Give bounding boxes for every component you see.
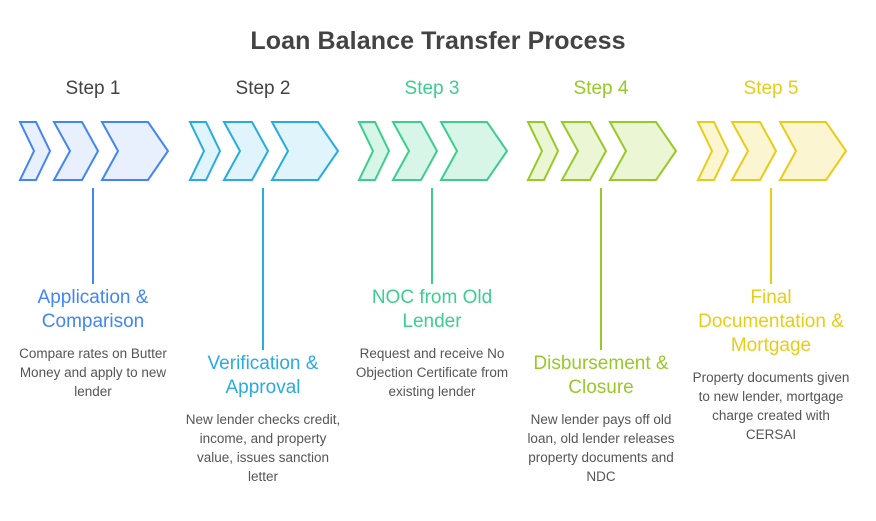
step-label-5: Step 5 — [684, 78, 858, 100]
step-label-3: Step 3 — [345, 78, 519, 100]
step-heading-3: NOC from Old Lender — [345, 286, 519, 334]
chevron-large-icon — [610, 122, 676, 180]
chevron-group-5 — [684, 120, 858, 182]
step-description-3: Request and receive No Objection Certifi… — [345, 344, 519, 401]
chevron-medium-icon — [54, 122, 98, 180]
chevron-medium-icon — [732, 122, 776, 180]
step-heading-1: Application & Comparison — [6, 286, 180, 334]
chevron-small-icon — [359, 122, 389, 180]
connector-line-2 — [262, 188, 264, 350]
chevron-small-icon — [190, 122, 220, 180]
process-step-5: Step 5 Final Documentation & Mortgage Pr… — [684, 78, 858, 521]
process-steps-row: Step 1 Application & Comparison Compare … — [0, 78, 876, 521]
chevron-medium-icon — [393, 122, 437, 180]
connector-line-5 — [770, 188, 772, 284]
step-heading-5: Final Documentation & Mortgage — [684, 286, 858, 358]
step-text-5: Final Documentation & Mortgage Property … — [684, 286, 858, 444]
step-description-5: Property documents given to new lender, … — [684, 368, 858, 444]
process-step-4: Step 4 Disbursement & Closure New lender… — [514, 78, 688, 521]
chevron-small-icon — [698, 122, 728, 180]
step-label-4: Step 4 — [514, 78, 688, 100]
chevron-group-1 — [6, 120, 180, 182]
step-text-4: Disbursement & Closure New lender pays o… — [514, 352, 688, 486]
process-step-3: Step 3 NOC from Old Lender Request and r… — [345, 78, 519, 521]
connector-line-1 — [92, 188, 94, 284]
chevron-large-icon — [441, 122, 507, 180]
chevron-small-icon — [528, 122, 558, 180]
chevron-group-2 — [176, 120, 350, 182]
chevron-group-4 — [514, 120, 688, 182]
page-title: Loan Balance Transfer Process — [0, 27, 876, 56]
connector-line-3 — [431, 188, 433, 284]
step-text-3: NOC from Old Lender Request and receive … — [345, 286, 519, 401]
chevron-large-icon — [780, 122, 846, 180]
step-heading-2: Verification & Approval — [176, 352, 350, 400]
step-text-1: Application & Comparison Compare rates o… — [6, 286, 180, 401]
step-description-2: New lender checks credit, income, and pr… — [176, 410, 350, 486]
chevron-medium-icon — [224, 122, 268, 180]
step-heading-4: Disbursement & Closure — [514, 352, 688, 400]
step-label-1: Step 1 — [6, 78, 180, 100]
step-description-1: Compare rates on Butter Money and apply … — [6, 344, 180, 401]
process-step-1: Step 1 Application & Comparison Compare … — [6, 78, 180, 521]
process-step-2: Step 2 Verification & Approval New lende… — [176, 78, 350, 521]
chevron-large-icon — [272, 122, 338, 180]
step-label-2: Step 2 — [176, 78, 350, 100]
chevron-large-icon — [102, 122, 168, 180]
connector-line-4 — [600, 188, 602, 350]
step-description-4: New lender pays off old loan, old lender… — [514, 410, 688, 486]
step-text-2: Verification & Approval New lender check… — [176, 352, 350, 486]
chevron-small-icon — [20, 122, 50, 180]
chevron-group-3 — [345, 120, 519, 182]
chevron-medium-icon — [562, 122, 606, 180]
